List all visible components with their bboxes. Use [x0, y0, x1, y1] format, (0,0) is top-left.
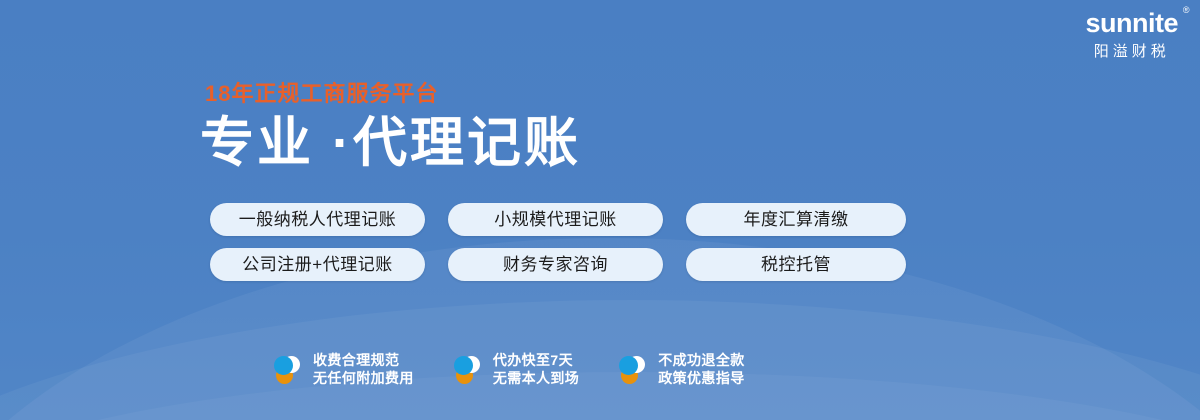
logo-chinese-name: 阳溢财税 [1085, 44, 1178, 59]
brand-logo[interactable]: sunnite ® 阳溢财税 [1085, 10, 1178, 59]
feature-strip: 收费合理规范 无任何附加费用 代办快至7天 无需本人到场 不成功退全款 [272, 352, 783, 388]
service-pill-grid: 一般纳税人代理记账 小规模代理记账 年度汇算清缴 公司注册+代理记账 财务专家咨… [210, 203, 906, 281]
feature-text: 代办快至7天 无需本人到场 [493, 352, 579, 388]
feature-text: 收费合理规范 无任何附加费用 [313, 352, 414, 388]
feature-item: 不成功退全款 政策优惠指导 [617, 352, 744, 388]
feature-line-primary: 代办快至7天 [493, 352, 579, 370]
feature-line-primary: 收费合理规范 [313, 352, 414, 370]
service-pill-annual-settlement[interactable]: 年度汇算清缴 [686, 203, 906, 236]
feature-line-secondary: 无需本人到场 [493, 370, 579, 388]
service-pill-small-scale[interactable]: 小规模代理记账 [448, 203, 663, 236]
registered-trademark-icon: ® [1183, 6, 1189, 15]
feature-item: 收费合理规范 无任何附加费用 [272, 352, 414, 388]
two-circles-icon [452, 353, 484, 386]
two-circles-icon [617, 353, 649, 386]
feature-text: 不成功退全款 政策优惠指导 [658, 352, 744, 388]
service-pill-tax-control-hosting[interactable]: 税控托管 [686, 248, 906, 281]
logo-wordmark-text: sunnite [1085, 8, 1178, 38]
feature-line-secondary: 政策优惠指导 [658, 370, 744, 388]
promo-banner: sunnite ® 阳溢财税 18年正规工商服务平台 专业 ·代理记账 一般纳税… [0, 0, 1200, 420]
feature-line-primary: 不成功退全款 [658, 352, 744, 370]
logo-wordmark: sunnite ® [1085, 10, 1178, 37]
hero-kicker: 18年正规工商服务平台 [205, 76, 438, 108]
page-title: 专业 ·代理记账 [200, 116, 581, 170]
two-circles-icon [272, 353, 304, 386]
service-pill-general-taxpayer[interactable]: 一般纳税人代理记账 [210, 203, 425, 236]
service-pill-finance-consulting[interactable]: 财务专家咨询 [448, 248, 663, 281]
service-pill-company-registration[interactable]: 公司注册+代理记账 [210, 248, 425, 281]
feature-line-secondary: 无任何附加费用 [313, 370, 414, 388]
feature-item: 代办快至7天 无需本人到场 [452, 352, 579, 388]
